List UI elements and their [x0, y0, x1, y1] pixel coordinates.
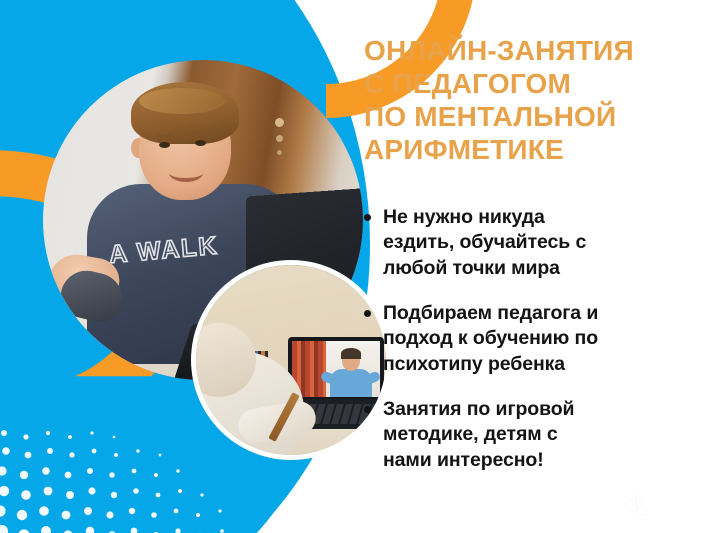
boy-eye-left: [159, 142, 170, 148]
photo-video-lesson: [196, 265, 386, 455]
list-item-text: Занятия по игровой методике, детям с нам…: [383, 397, 574, 473]
avito-circles-icon: [625, 496, 651, 516]
bullet-dot-icon: [364, 214, 371, 221]
benefits-list: Не нужно никуда ездить, обучайтесь с люб…: [364, 205, 686, 473]
list-item-line: Подбираем педагога и: [383, 301, 598, 326]
headline-line-2: С ПЕДАГОГОМ: [364, 67, 694, 100]
list-item-line: Занятия по игровой: [383, 397, 574, 422]
boy-hair: [131, 82, 239, 144]
list-item-line: ездить, обучайтесь с: [383, 230, 586, 255]
avito-watermark: Avito: [625, 493, 708, 519]
photo-scene-secondary: [196, 265, 386, 455]
list-item-line: Не нужно никуда: [383, 205, 586, 230]
headline: ОНЛАЙН-ЗАНЯТИЯ С ПЕДАГОГОМ ПО МЕНТАЛЬНОЙ…: [364, 34, 694, 166]
headline-line-4: АРИФМЕТИКЕ: [364, 133, 694, 166]
boy-smile: [169, 164, 203, 182]
list-item-line: методике, детям с: [383, 422, 574, 447]
headline-line-3: ПО МЕНТАЛЬНОЙ: [364, 100, 694, 133]
advertisement-banner: A WALK: [0, 0, 720, 533]
list-item-line: подход к обучению по: [383, 326, 598, 351]
list-item-text: Подбираем педагога и подход к обучению п…: [383, 301, 598, 377]
list-item-text: Не нужно никуда ездить, обучайтесь с люб…: [383, 205, 586, 281]
list-item-line: психотипу ребенка: [383, 352, 598, 377]
list-item-line: любой точки мира: [383, 256, 586, 281]
list-item-line: нами интересно!: [383, 448, 574, 473]
list-item: Подбираем педагога и подход к обучению п…: [364, 301, 686, 377]
boy-eye-right: [195, 140, 206, 146]
teacher-hair: [341, 348, 361, 359]
avito-wordmark: Avito: [656, 493, 708, 519]
list-item: Не нужно никуда ездить, обучайтесь с люб…: [364, 205, 686, 281]
door-knob: [275, 118, 284, 127]
bullet-dot-icon: [364, 406, 371, 413]
headline-line-1: ОНЛАЙН-ЗАНЯТИЯ: [364, 34, 694, 67]
bullet-dot-icon: [364, 310, 371, 317]
list-item: Занятия по игровой методике, детям с нам…: [364, 397, 686, 473]
